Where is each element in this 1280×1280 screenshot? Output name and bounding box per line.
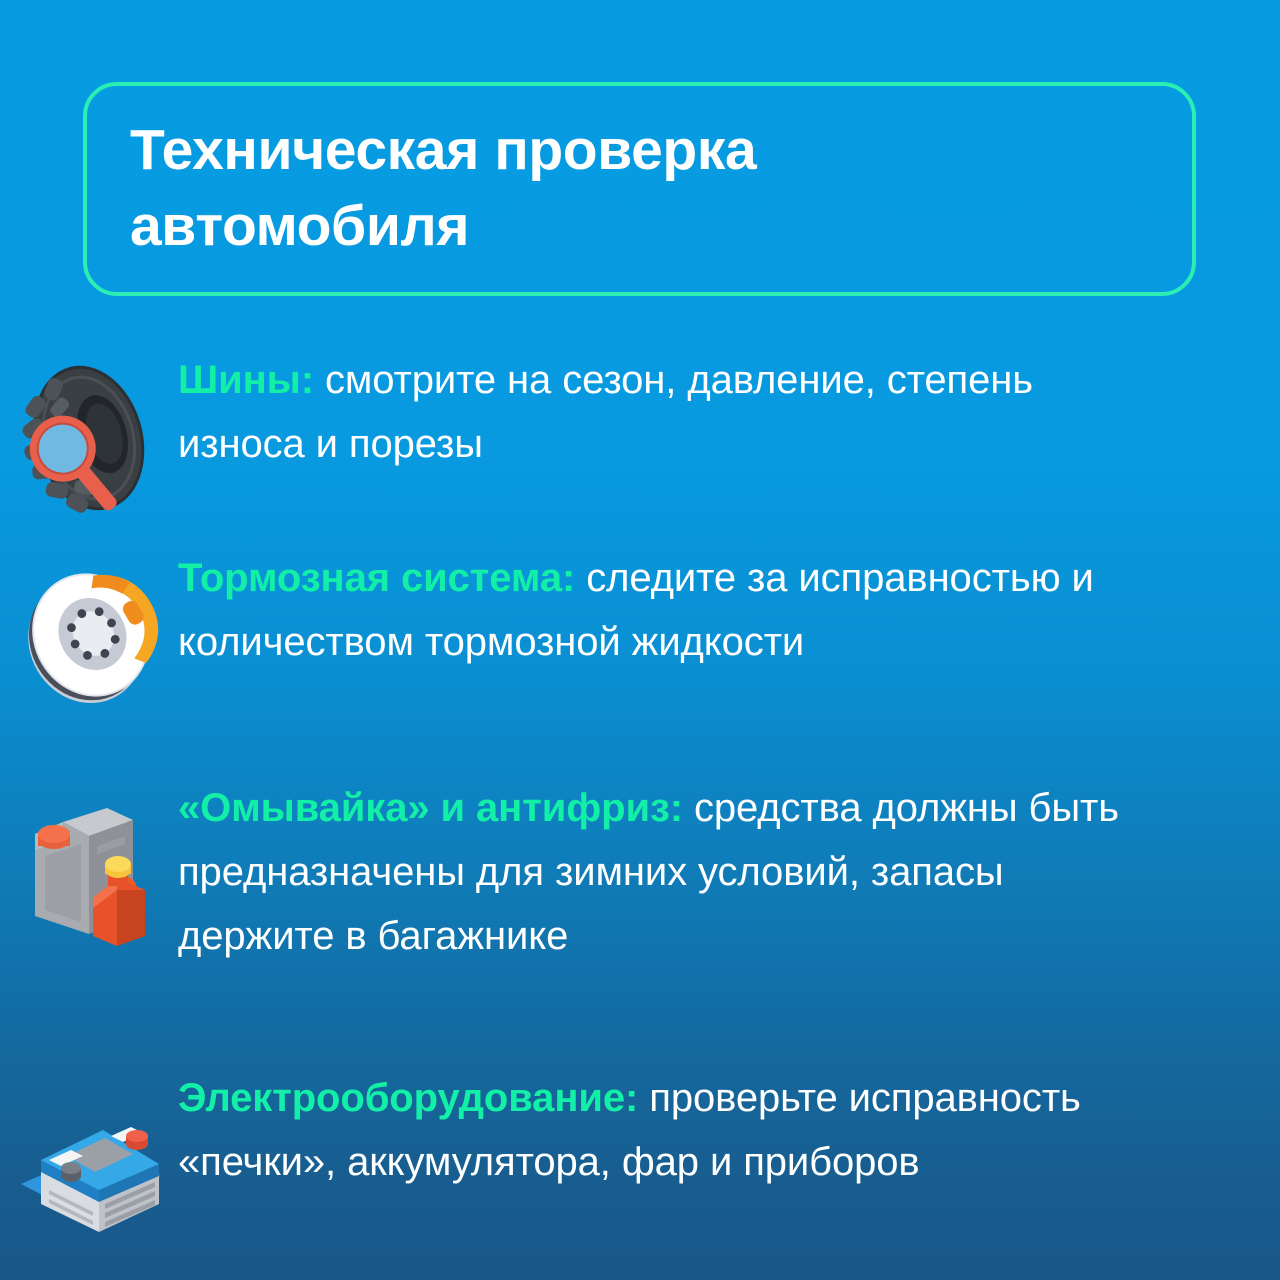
tire-magnifier-icon <box>0 348 178 522</box>
car-battery-icon <box>0 1066 178 1248</box>
list-item-electrics: Электрооборудование: проверьте исправнос… <box>0 1066 1280 1276</box>
list-item-label: Тормозная система: <box>178 556 575 600</box>
list-item-brakes: Тормозная система: следите за исправност… <box>0 546 1280 776</box>
page-title: Техническая проверка автомобиля <box>87 113 756 265</box>
washer-fluid-canister-icon <box>0 776 178 962</box>
list-item-label: Электрооборудование: <box>178 1076 638 1120</box>
title-card: Техническая проверка автомобиля <box>83 82 1196 296</box>
brake-disc-caliper-icon <box>0 546 178 720</box>
tips-list: Шины: смотрите на сезон, давление, степе… <box>0 348 1280 1276</box>
list-item-text: Шины: смотрите на сезон, давление, степе… <box>178 348 1280 476</box>
list-item-text: Электрооборудование: проверьте исправнос… <box>178 1066 1280 1194</box>
list-item-text: «Омывайка» и антифриз: средства должны б… <box>178 776 1280 968</box>
list-item-fluids: «Омывайка» и антифриз: средства должны б… <box>0 776 1280 1066</box>
list-item-text: Тормозная система: следите за исправност… <box>178 546 1280 674</box>
list-item-tires: Шины: смотрите на сезон, давление, степе… <box>0 348 1280 546</box>
infographic-poster: Техническая проверка автомобиля <box>0 0 1280 1280</box>
list-item-label: «Омывайка» и антифриз: <box>178 786 683 830</box>
list-item-label: Шины: <box>178 358 314 402</box>
